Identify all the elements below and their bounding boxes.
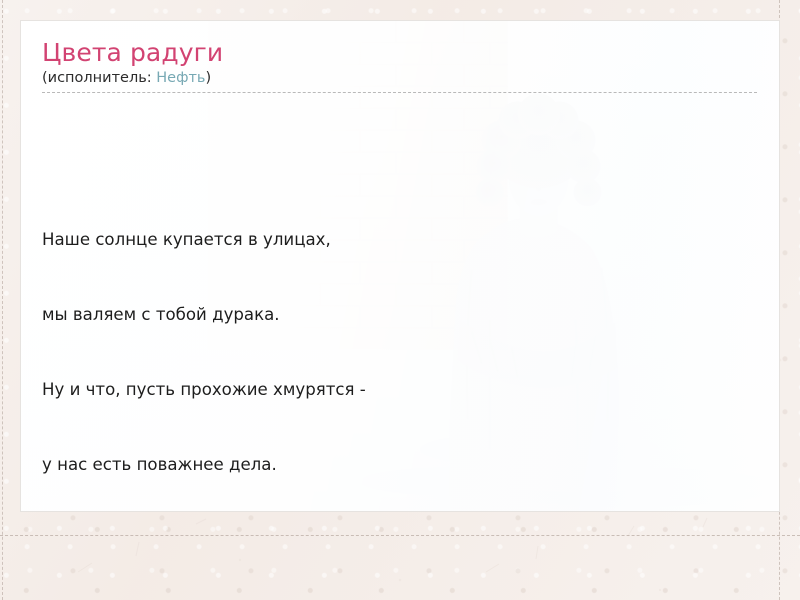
artist-suffix-label: ) (205, 70, 211, 86)
lyrics-line: у нас есть поважнее дела. (42, 452, 757, 477)
artist-prefix-label: (исполнитель: (42, 70, 156, 86)
lyrics-card: Цвета радуги (исполнитель: Нефть) Наше с… (20, 20, 780, 512)
page-guide-left (2, 0, 3, 600)
lyrics-body: Наше солнце купается в улицах, мы валяем… (42, 93, 757, 512)
lyrics-line: Наше солнце купается в улицах, (42, 227, 757, 252)
lyrics-stanza: Наше солнце купается в улицах, мы валяем… (42, 177, 757, 512)
page-guide-bottom (0, 535, 800, 536)
artist-link[interactable]: Нефть (156, 70, 205, 86)
artist-line: (исполнитель: Нефть) (42, 70, 757, 87)
lyrics-line: мы валяем с тобой дурака. (42, 302, 757, 327)
card-content: Цвета радуги (исполнитель: Нефть) Наше с… (21, 21, 779, 512)
lyrics-line: Ну и что, пусть прохожие хмурятся - (42, 377, 757, 402)
song-title: Цвета радуги (42, 39, 757, 67)
